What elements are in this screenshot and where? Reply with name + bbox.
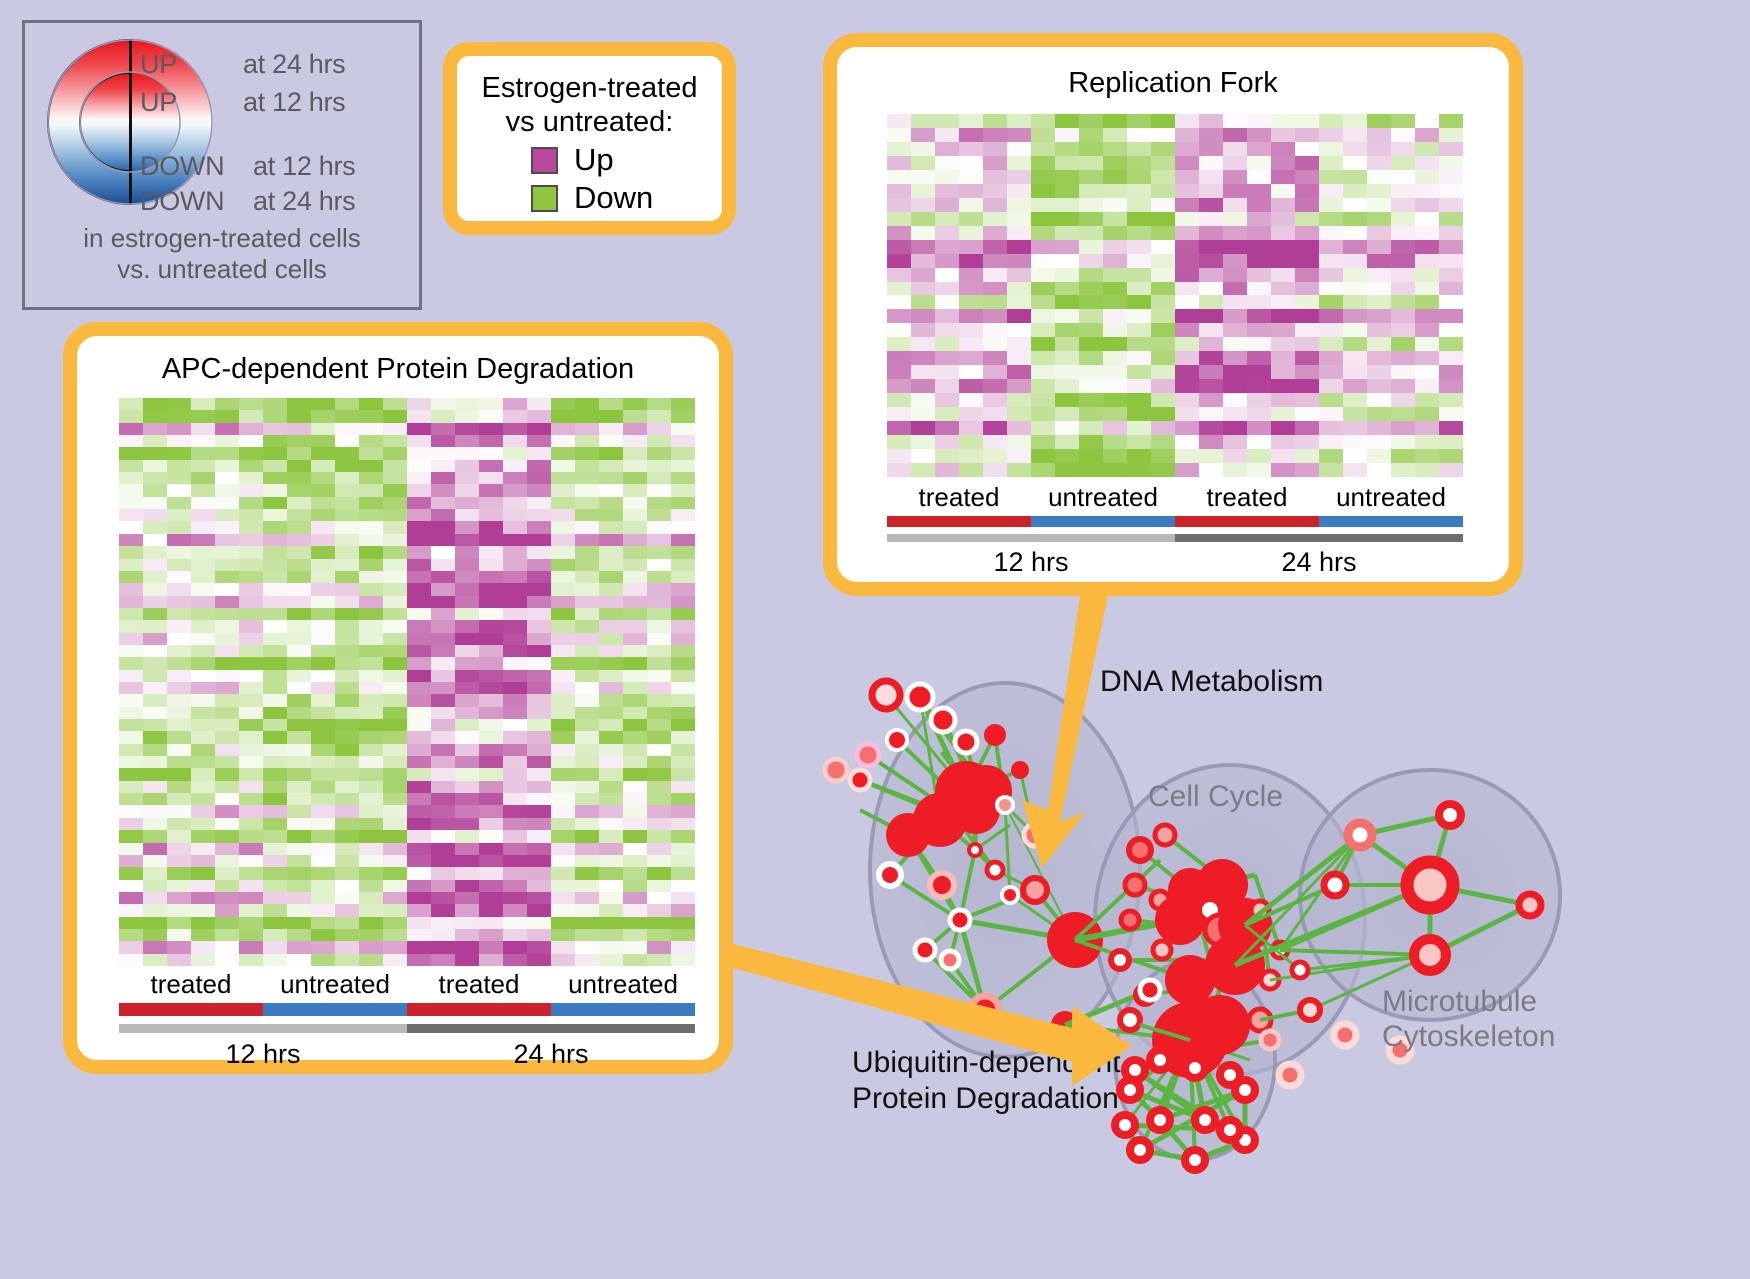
heatmap-cell: [1391, 184, 1415, 198]
heatmap-cell: [647, 423, 671, 435]
heatmap-cell: [983, 184, 1007, 198]
heatmap-cell: [935, 393, 959, 407]
heatmap-cell: [311, 941, 335, 953]
heatmap-cell: [119, 410, 143, 422]
heatmap-cell: [1343, 254, 1367, 268]
heatmap-cell: [575, 880, 599, 892]
heatmap-cell: [527, 447, 551, 459]
heatmap-cell: [527, 941, 551, 953]
heatmap-cell: [1079, 379, 1103, 393]
heatmap-cell: [911, 282, 935, 296]
heatmap-cell: [1295, 142, 1319, 156]
heatmap-cell: [503, 855, 527, 867]
heatmap-cell: [479, 423, 503, 435]
time-bar-12hrs: [887, 534, 1175, 542]
heatmap-cell: [1175, 114, 1199, 128]
heatmap-cell: [311, 608, 335, 620]
heatmap-cell: [431, 534, 455, 546]
heatmap-cell: [191, 880, 215, 892]
heatmap-cell: [911, 156, 935, 170]
heatmap-cell: [383, 521, 407, 533]
heatmap-cell: [551, 423, 575, 435]
heatmap-cell: [287, 596, 311, 608]
heatmap-cell: [1367, 254, 1391, 268]
heatmap-cell: [143, 682, 167, 694]
heatmap-cell: [335, 904, 359, 916]
heatmap-cell: [671, 768, 695, 780]
heatmap-cell: [599, 398, 623, 410]
heatmap-cell: [479, 460, 503, 472]
heatmap-cell: [1319, 351, 1343, 365]
heatmap-cell: [647, 571, 671, 583]
heatmap-cell: [143, 941, 167, 953]
heatmap-cell: [671, 793, 695, 805]
heatmap-cell: [479, 781, 503, 793]
heatmap-cell: [935, 212, 959, 226]
heatmap-cell: [1031, 226, 1055, 240]
heatmap-cell: [1127, 128, 1151, 142]
heatmap-cell: [911, 449, 935, 463]
heatmap-cell: [1175, 435, 1199, 449]
heatmap-cell: [599, 423, 623, 435]
heatmap-cell: [551, 534, 575, 546]
heatmap-cell: [959, 309, 983, 323]
heatmap-cell: [191, 460, 215, 472]
heatmap-cell: [383, 608, 407, 620]
heatmap-cell: [1247, 393, 1271, 407]
heatmap-cell: [143, 719, 167, 731]
heatmap-cell: [335, 731, 359, 743]
heatmap-cell: [1367, 365, 1391, 379]
heatmap-cell: [911, 295, 935, 309]
heatmap-cell: [239, 410, 263, 422]
heatmap-cell: [911, 323, 935, 337]
heatmap-cell: [1367, 337, 1391, 351]
heatmap-cell: [551, 843, 575, 855]
heatmap-cell: [119, 620, 143, 632]
heatmap-cell: [1031, 114, 1055, 128]
heatmap-cell: [287, 929, 311, 941]
heatmap-cell: [887, 365, 911, 379]
heatmap-cell: [431, 954, 455, 966]
heatmap-cell: [479, 805, 503, 817]
heatmap-cell: [1031, 365, 1055, 379]
heatmap-cell: [1031, 254, 1055, 268]
heatmap-cell: [143, 805, 167, 817]
heatmap-cell: [1391, 240, 1415, 254]
heatmap-cell: [263, 929, 287, 941]
heatmap-cell: [1223, 198, 1247, 212]
heatmap-cell: [647, 731, 671, 743]
heatmap-cell: [191, 867, 215, 879]
heatmap-cell: [623, 608, 647, 620]
heatmap-cell: [575, 447, 599, 459]
heatmap-cell: [1199, 268, 1223, 282]
heatmap-cell: [407, 818, 431, 830]
heatmap-cell: [527, 534, 551, 546]
heatmap-cell: [407, 645, 431, 657]
heatmap-cell: [1223, 254, 1247, 268]
heatmap-cell: [599, 435, 623, 447]
heatmap-cell: [623, 719, 647, 731]
heatmap-cell: [647, 410, 671, 422]
heatmap-cell: [407, 410, 431, 422]
heatmap-cell: [887, 184, 911, 198]
heatmap-cell: [503, 781, 527, 793]
heatmap-cell: [1415, 379, 1439, 393]
heatmap-cell: [1295, 309, 1319, 323]
heatmap-cell: [647, 880, 671, 892]
heatmap-cell: [215, 657, 239, 669]
heatmap-cell: [383, 805, 407, 817]
heatmap-cell: [359, 657, 383, 669]
heatmap-cell: [503, 484, 527, 496]
heatmap-cell: [1103, 226, 1127, 240]
heatmap-cell: [1151, 156, 1175, 170]
heatmap-cell: [287, 559, 311, 571]
heatmap-cell: [1007, 240, 1031, 254]
heatmap-cell: [167, 596, 191, 608]
heatmap-cell: [455, 867, 479, 879]
heatmap-cell: [551, 410, 575, 422]
heatmap-cell: [239, 744, 263, 756]
heatmap-cell: [263, 830, 287, 842]
heatmap-cell: [1391, 365, 1415, 379]
heatmap-cell: [1271, 407, 1295, 421]
heatmap-cell: [287, 509, 311, 521]
heatmap-cell: [167, 805, 191, 817]
heatmap-cell: [287, 657, 311, 669]
heatmap-cell: [623, 954, 647, 966]
heatmap-cell: [407, 447, 431, 459]
heatmap-cell: [215, 472, 239, 484]
heatmap-cell: [215, 571, 239, 583]
heatmap-cell: [215, 855, 239, 867]
heatmap-cell: [887, 435, 911, 449]
heatmap-cell: [527, 645, 551, 657]
heatmap-cell: [263, 620, 287, 632]
heatmap-cell: [1127, 365, 1151, 379]
heatmap-cell: [191, 768, 215, 780]
heatmap-cell: [335, 521, 359, 533]
heatmap-cell: [647, 892, 671, 904]
heatmap-cell: [191, 694, 215, 706]
heatmap-cell: [1007, 142, 1031, 156]
heatmap-cell: [551, 472, 575, 484]
heatmap-cell: [935, 351, 959, 365]
heatmap-cell: [287, 707, 311, 719]
heatmap-cell: [407, 559, 431, 571]
heatmap-cell: [599, 867, 623, 879]
heatmap-cell: [1343, 421, 1367, 435]
heatmap-cell: [215, 929, 239, 941]
heatmap-cell: [383, 472, 407, 484]
heatmap-cell: [623, 793, 647, 805]
heatmap-cell: [479, 534, 503, 546]
heatmap-cell: [335, 929, 359, 941]
heatmap-cell: [599, 608, 623, 620]
heatmap-cell: [503, 596, 527, 608]
heatmap-cell: [887, 212, 911, 226]
heatmap-cell: [479, 880, 503, 892]
heatmap-cell: [431, 398, 455, 410]
heatmap-cell: [431, 472, 455, 484]
heatmap-cell: [455, 744, 479, 756]
heatmap-cell: [455, 583, 479, 595]
heatmap-cell: [239, 830, 263, 842]
heatmap-cell: [887, 351, 911, 365]
heatmap-cell: [527, 571, 551, 583]
heatmap-cell: [167, 917, 191, 929]
heatmap-cell: [1031, 407, 1055, 421]
heatmap-cell: [1175, 128, 1199, 142]
heatmap-cell: [1439, 449, 1463, 463]
heatmap-cell: [671, 756, 695, 768]
heatmap-cell: [1151, 421, 1175, 435]
heatmap-cell: [1223, 393, 1247, 407]
heatmap-cell: [959, 268, 983, 282]
heatmap-cell: [1055, 156, 1079, 170]
heatmap-cell: [623, 670, 647, 682]
heatmap-cell: [1343, 170, 1367, 184]
heatmap-cell: [599, 818, 623, 830]
heatmap-cell: [599, 904, 623, 916]
heatmap-cell: [575, 756, 599, 768]
heatmap-cell: [623, 781, 647, 793]
heatmap-cell: [335, 682, 359, 694]
heatmap-cell: [551, 744, 575, 756]
heatmap-cell: [119, 460, 143, 472]
heatmap-cell: [1103, 268, 1127, 282]
heatmap-cell: [383, 917, 407, 929]
heatmap-cell: [215, 954, 239, 966]
heatmap-cell: [479, 830, 503, 842]
heatmap-cell: [407, 521, 431, 533]
heatmap-cell: [263, 707, 287, 719]
heatmap-cell: [239, 768, 263, 780]
heatmap-cell: [1103, 407, 1127, 421]
heatmap-cell: [1127, 142, 1151, 156]
heatmap-cell: [359, 781, 383, 793]
heatmap-cell: [623, 534, 647, 546]
heatmap-cell: [1319, 323, 1343, 337]
heatmap-cell: [239, 497, 263, 509]
heatmap-cell: [263, 880, 287, 892]
heatmap-cell: [287, 892, 311, 904]
heatmap-cell: [551, 559, 575, 571]
heatmap-cell: [671, 694, 695, 706]
heatmap-cell: [1295, 128, 1319, 142]
heatmap-cell: [479, 719, 503, 731]
ring-label-up-12: UP: [140, 87, 177, 118]
heatmap-cell: [431, 521, 455, 533]
heatmap-cell: [527, 768, 551, 780]
heatmap-cell: [239, 904, 263, 916]
heatmap-cell: [335, 571, 359, 583]
heatmap-cell: [1415, 282, 1439, 296]
heatmap-cell: [1151, 226, 1175, 240]
heatmap-cell: [455, 855, 479, 867]
heatmap-cell: [599, 744, 623, 756]
heatmap-cell: [335, 670, 359, 682]
heatmap-cell: [503, 546, 527, 558]
heatmap-cell: [119, 534, 143, 546]
heatmap-cell: [1295, 323, 1319, 337]
heatmap-cell: [455, 633, 479, 645]
heatmap-cell: [287, 941, 311, 953]
heatmap-cell: [479, 867, 503, 879]
heatmap-cell: [407, 756, 431, 768]
heatmap-cell: [1439, 337, 1463, 351]
heatmap-cell: [623, 731, 647, 743]
heatmap-cell: [1151, 240, 1175, 254]
heatmap-cell: [647, 707, 671, 719]
heatmap-cell: [407, 398, 431, 410]
heatmap-cell: [623, 484, 647, 496]
heatmap-cell: [335, 657, 359, 669]
heatmap-cell: [1415, 435, 1439, 449]
heatmap-cell: [1439, 156, 1463, 170]
heatmap-cell: [599, 768, 623, 780]
heatmap-cell: [479, 744, 503, 756]
heatmap-cell: [1199, 421, 1223, 435]
heatmap-cell: [647, 781, 671, 793]
panel-apc-degradation: APC-dependent Protein Degradation treate…: [63, 322, 733, 1074]
heatmap-cell: [623, 509, 647, 521]
heatmap-cell: [479, 497, 503, 509]
heatmap-cell: [1295, 393, 1319, 407]
heatmap-cell: [215, 633, 239, 645]
heatmap-cell: [335, 843, 359, 855]
heatmap-cell: [1007, 379, 1031, 393]
heatmap-cell: [431, 744, 455, 756]
heatmap-cell: [383, 509, 407, 521]
heatmap-cell: [359, 830, 383, 842]
heatmap-cell: [1103, 156, 1127, 170]
heatmap-cell: [959, 254, 983, 268]
heatmap-cell: [623, 460, 647, 472]
heatmap-cell: [119, 546, 143, 558]
heatmap-cell: [1319, 463, 1343, 477]
heatmap-cell: [239, 731, 263, 743]
heatmap-cell: [455, 484, 479, 496]
heatmap-cell: [359, 410, 383, 422]
color-legend-title-line2: vs untreated:: [457, 106, 722, 140]
heatmap-cell: [1415, 351, 1439, 365]
heatmap-cell: [527, 398, 551, 410]
heatmap-cell: [887, 449, 911, 463]
heatmap-cell: [1271, 309, 1295, 323]
heatmap-cell: [455, 509, 479, 521]
heatmap-cell: [1319, 170, 1343, 184]
heatmap-cell: [479, 694, 503, 706]
heatmap-cell: [359, 707, 383, 719]
heatmap-cell: [359, 608, 383, 620]
heatmap-cell: [647, 805, 671, 817]
heatmap-cell: [1175, 226, 1199, 240]
heatmap-cell: [1343, 156, 1367, 170]
heatmap-cell: [1367, 421, 1391, 435]
heatmap-cell: [119, 596, 143, 608]
heatmap-cell: [911, 240, 935, 254]
heatmap-cell: [959, 323, 983, 337]
heatmap-cell: [263, 954, 287, 966]
heatmap-cell: [143, 472, 167, 484]
condition-bar-untreated: [1319, 516, 1463, 527]
heatmap-cell: [311, 707, 335, 719]
heatmap-cell: [431, 460, 455, 472]
heatmap-cell: [1271, 114, 1295, 128]
heatmap-cell: [359, 583, 383, 595]
heatmap-cell: [935, 282, 959, 296]
heatmap-cell: [911, 268, 935, 282]
heatmap-cell: [1223, 449, 1247, 463]
heatmap-cell: [1415, 309, 1439, 323]
heatmap-cell: [599, 521, 623, 533]
heatmap-cell: [575, 645, 599, 657]
heatmap-cell: [503, 892, 527, 904]
heatmap-cell: [455, 657, 479, 669]
heatmap-cell: [479, 843, 503, 855]
heatmap-cell: [623, 620, 647, 632]
heatmap-cell: [335, 497, 359, 509]
heatmap-cell: [1151, 407, 1175, 421]
heatmap-cell: [1391, 212, 1415, 226]
heatmap-cell: [551, 707, 575, 719]
heatmap-cell: [503, 756, 527, 768]
time-label-12hrs: 12 hrs: [119, 1039, 407, 1070]
heatmap-cell: [263, 546, 287, 558]
heatmap-cell: [599, 633, 623, 645]
heatmap-cell: [119, 719, 143, 731]
heatmap-cell: [383, 855, 407, 867]
heatmap-cell: [1031, 351, 1055, 365]
heatmap-cell: [1199, 184, 1223, 198]
heatmap-cell: [1007, 309, 1031, 323]
heatmap-cell: [671, 583, 695, 595]
heatmap-cell: [1031, 449, 1055, 463]
heatmap-cell: [479, 583, 503, 595]
heatmap-cell: [1439, 351, 1463, 365]
heatmap-cell: [1175, 351, 1199, 365]
heatmap-cell: [263, 670, 287, 682]
heatmap-cell: [575, 929, 599, 941]
heatmap-cell: [167, 867, 191, 879]
heatmap-cell: [1127, 170, 1151, 184]
heatmap-cell: [1319, 379, 1343, 393]
heatmap-cell: [575, 596, 599, 608]
heatmap-cell: [911, 142, 935, 156]
heatmap-cell: [455, 645, 479, 657]
condition-label: untreated: [551, 969, 695, 1000]
heatmap-cell: [935, 254, 959, 268]
heatmap-cell: [575, 904, 599, 916]
heatmap-cell: [911, 337, 935, 351]
ring-legend-box: UP at 24 hrs UP at 12 hrs DOWN at 12 hrs…: [22, 20, 422, 310]
heatmap-cell: [1391, 128, 1415, 142]
heatmap-cell: [1199, 323, 1223, 337]
heatmap-cell: [1439, 365, 1463, 379]
heatmap-cell: [263, 398, 287, 410]
heatmap-cell: [215, 843, 239, 855]
heatmap-cell: [599, 497, 623, 509]
heatmap-cell: [119, 497, 143, 509]
heatmap-cell: [143, 447, 167, 459]
heatmap-cell: [1055, 114, 1079, 128]
heatmap-cell: [311, 904, 335, 916]
heatmap-cell: [335, 855, 359, 867]
heatmap-cell: [911, 407, 935, 421]
